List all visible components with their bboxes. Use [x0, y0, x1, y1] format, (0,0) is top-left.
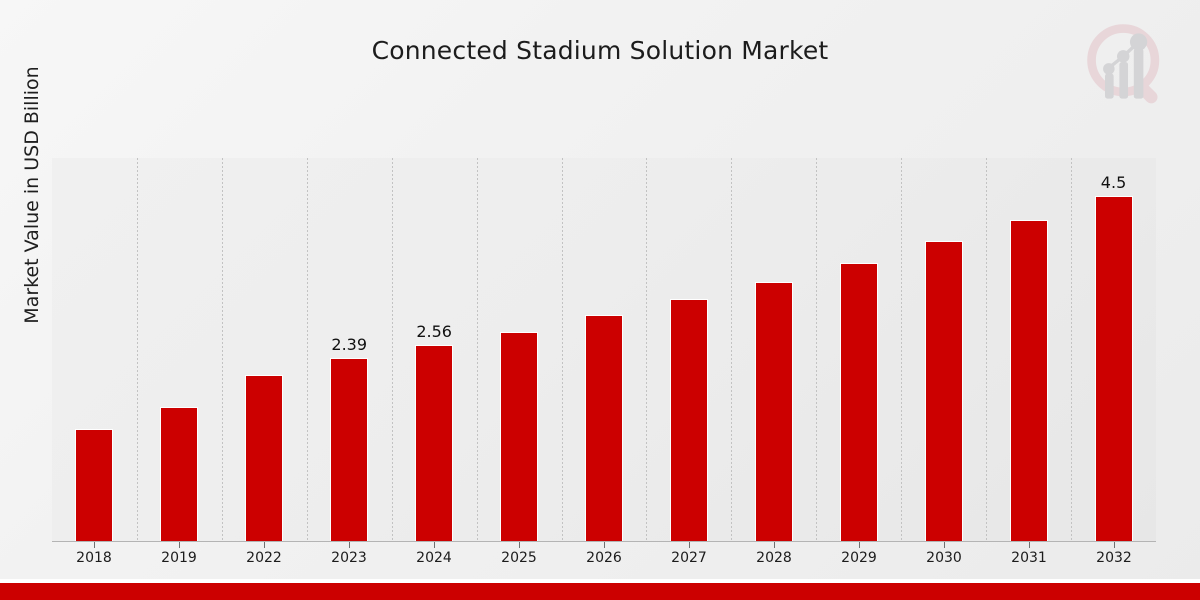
chart-bar[interactable] [755, 282, 793, 542]
chart-bar-group[interactable] [670, 158, 708, 542]
x-axis-tick [264, 542, 265, 548]
x-axis-tick [1029, 542, 1030, 548]
chart-bar-group[interactable] [840, 158, 878, 542]
x-axis-tick [349, 542, 350, 548]
chart-bar-group[interactable] [585, 158, 623, 542]
x-axis-tick [179, 542, 180, 548]
chart-bar-value-label: 4.5 [1069, 173, 1159, 192]
chart-bar-group[interactable]: 2.56 [415, 158, 453, 542]
chart-bars-layer: 2.392.564.5 [52, 158, 1156, 542]
chart-bar[interactable] [245, 375, 283, 542]
chart-bar-value-label: 2.56 [389, 322, 479, 341]
x-axis-tick-label: 2023 [309, 550, 389, 566]
x-axis-tick-label: 2026 [564, 550, 644, 566]
chart-bar[interactable] [840, 263, 878, 542]
chart-bar-group[interactable] [245, 158, 283, 542]
x-axis-tick-label: 2024 [394, 550, 474, 566]
x-axis-tick [1114, 542, 1115, 548]
chart-bar-group[interactable] [1010, 158, 1048, 542]
x-axis-ticks [52, 542, 1156, 548]
chart-bar-group[interactable] [500, 158, 538, 542]
x-axis-labels: 2018201920222023202420252026202720282029… [52, 550, 1156, 572]
x-axis-tick [94, 542, 95, 548]
page-title: Connected Stadium Solution Market [0, 36, 1200, 65]
footer-accent-bar [0, 583, 1200, 600]
chart-bar[interactable] [925, 241, 963, 542]
chart-bar-value-label: 2.39 [304, 335, 394, 354]
chart-bar-group[interactable] [75, 158, 113, 542]
chart-plot-area: 2.392.564.5 [52, 158, 1156, 542]
x-axis-tick-label: 2029 [819, 550, 899, 566]
x-axis-tick [519, 542, 520, 548]
x-axis-tick [859, 542, 860, 548]
chart-bar-group[interactable]: 4.5 [1095, 158, 1133, 542]
chart-bar[interactable] [1010, 220, 1048, 542]
x-axis-tick-label: 2025 [479, 550, 559, 566]
chart-bar-group[interactable] [160, 158, 198, 542]
chart-bar[interactable] [160, 407, 198, 542]
x-axis-tick-label: 2022 [224, 550, 304, 566]
chart-bar[interactable] [500, 332, 538, 542]
magnifier-bar-chart-logo-icon [1080, 18, 1178, 114]
chart-bar[interactable] [330, 358, 368, 542]
x-axis-tick [689, 542, 690, 548]
chart-bar-group[interactable]: 2.39 [330, 158, 368, 542]
x-axis-tick [434, 542, 435, 548]
x-axis-tick-label: 2018 [54, 550, 134, 566]
chart-bar[interactable] [1095, 196, 1133, 542]
x-axis-tick-label: 2032 [1074, 550, 1154, 566]
x-axis-tick-label: 2028 [734, 550, 814, 566]
y-axis-title: Market Value in USD Billion [21, 0, 43, 395]
chart-bar[interactable] [670, 299, 708, 542]
chart-bar[interactable] [415, 345, 453, 542]
x-axis-tick-label: 2030 [904, 550, 984, 566]
x-axis-tick-label: 2019 [139, 550, 219, 566]
chart-bar-group[interactable] [755, 158, 793, 542]
chart-bar-group[interactable] [925, 158, 963, 542]
chart-bar[interactable] [585, 315, 623, 542]
x-axis-tick [774, 542, 775, 548]
x-axis-tick-label: 2027 [649, 550, 729, 566]
chart-bar[interactable] [75, 429, 113, 542]
x-axis-tick [604, 542, 605, 548]
x-axis-tick-label: 2031 [989, 550, 1069, 566]
x-axis-tick [944, 542, 945, 548]
